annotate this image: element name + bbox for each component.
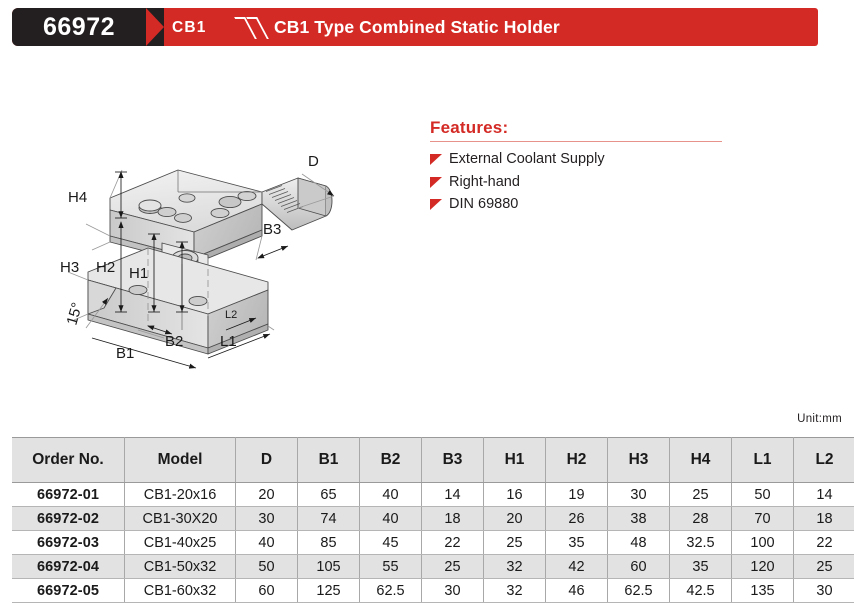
cell-b3: 18	[422, 507, 484, 531]
features-divider	[430, 141, 722, 142]
cell-h4: 32.5	[670, 531, 732, 555]
cell-h3: 60	[608, 555, 670, 579]
cell-d: 20	[236, 483, 298, 507]
cell-h2: 19	[546, 483, 608, 507]
cell-b3: 25	[422, 555, 484, 579]
cell-order-no: 66972-05	[12, 579, 125, 603]
red-triangle-bullet-icon	[430, 154, 443, 167]
cell-l1: 50	[732, 483, 794, 507]
cell-h3: 38	[608, 507, 670, 531]
page-title: CB1 Type Combined Static Holder	[274, 8, 560, 46]
cell-h4: 28	[670, 507, 732, 531]
cell-d: 60	[236, 579, 298, 603]
cell-l2: 14	[794, 483, 854, 507]
cell-b1: 125	[298, 579, 360, 603]
dimension-label-h3: H3	[60, 259, 79, 276]
dimension-label-angle: 15°	[64, 301, 87, 327]
column-header-l1: L1	[732, 438, 794, 483]
cell-h3: 48	[608, 531, 670, 555]
cell-l2: 18	[794, 507, 854, 531]
column-header-order-no: Order No.	[12, 438, 125, 483]
series-code-text: CB1	[172, 8, 207, 46]
cell-model: CB1-50x32	[125, 555, 236, 579]
cell-l1: 120	[732, 555, 794, 579]
feature-list-item: DIN 69880	[430, 195, 730, 214]
column-header-b3: B3	[422, 438, 484, 483]
column-header-d: D	[236, 438, 298, 483]
column-header-b2: B2	[360, 438, 422, 483]
cell-h3: 62.5	[608, 579, 670, 603]
red-triangle-bullet-icon	[430, 199, 443, 212]
cell-l2: 22	[794, 531, 854, 555]
column-header-h4: H4	[670, 438, 732, 483]
cell-model: CB1-60x32	[125, 579, 236, 603]
column-header-h1: H1	[484, 438, 546, 483]
cell-d: 50	[236, 555, 298, 579]
cell-l1: 135	[732, 579, 794, 603]
cell-h1: 25	[484, 531, 546, 555]
dimension-label-b1: B1	[116, 345, 134, 362]
features-section: Features: External Coolant Supply Right-…	[430, 118, 730, 218]
cell-model: CB1-20x16	[125, 483, 236, 507]
drawing-svg: H4 H3 H2 H1 B3 D B2 B1 L1 L2 15°	[30, 130, 410, 370]
feature-label: External Coolant Supply	[449, 150, 605, 169]
cell-l1: 70	[732, 507, 794, 531]
cell-h1: 20	[484, 507, 546, 531]
cell-order-no: 66972-04	[12, 555, 125, 579]
cell-b1: 74	[298, 507, 360, 531]
cell-h1: 32	[484, 579, 546, 603]
cell-d: 40	[236, 531, 298, 555]
column-header-l2: L2	[794, 438, 854, 483]
cell-order-no: 66972-01	[12, 483, 125, 507]
cell-h4: 35	[670, 555, 732, 579]
cell-h2: 46	[546, 579, 608, 603]
dimension-label-b2: B2	[165, 333, 183, 350]
column-header-h3: H3	[608, 438, 670, 483]
cell-b2: 62.5	[360, 579, 422, 603]
cell-b1: 105	[298, 555, 360, 579]
cell-l2: 25	[794, 555, 854, 579]
cell-h2: 26	[546, 507, 608, 531]
cell-h4: 42.5	[670, 579, 732, 603]
table-row: 66972-05 CB1-60x32 60 125 62.5 30 32 46 …	[12, 579, 854, 603]
cell-order-no: 66972-03	[12, 531, 125, 555]
feature-label: DIN 69880	[449, 195, 518, 214]
cell-h2: 35	[546, 531, 608, 555]
cell-b1: 85	[298, 531, 360, 555]
table-row: 66972-03 CB1-40x25 40 85 45 22 25 35 48 …	[12, 531, 854, 555]
table-row: 66972-04 CB1-50x32 50 105 55 25 32 42 60…	[12, 555, 854, 579]
cell-h3: 30	[608, 483, 670, 507]
cell-b2: 40	[360, 507, 422, 531]
cell-h2: 42	[546, 555, 608, 579]
specification-table-container: Order No. Model D B1 B2 B3 H1 H2 H3 H4 L…	[12, 437, 845, 603]
order-code-text: 66972	[12, 8, 146, 46]
cell-b3: 14	[422, 483, 484, 507]
feature-list-item: External Coolant Supply	[430, 150, 730, 169]
cell-model: CB1-40x25	[125, 531, 236, 555]
dimension-label-l1: L1	[220, 333, 237, 350]
table-header-row: Order No. Model D B1 B2 B3 H1 H2 H3 H4 L…	[12, 438, 854, 483]
column-header-model: Model	[125, 438, 236, 483]
cell-h4: 25	[670, 483, 732, 507]
table-row: 66972-02 CB1-30X20 30 74 40 18 20 26 38 …	[12, 507, 854, 531]
specification-table: Order No. Model D B1 B2 B3 H1 H2 H3 H4 L…	[12, 437, 854, 603]
dimension-label-b3: B3	[263, 221, 281, 238]
red-triangle-bullet-icon	[430, 177, 443, 190]
dimension-label-l2: L2	[225, 309, 237, 321]
cell-h1: 32	[484, 555, 546, 579]
cell-b3: 30	[422, 579, 484, 603]
cell-b2: 45	[360, 531, 422, 555]
cell-l1: 100	[732, 531, 794, 555]
product-header-banner: 66972 CB1 CB1 Type Combined Static Holde…	[12, 8, 818, 46]
cell-b1: 65	[298, 483, 360, 507]
feature-list-item: Right-hand	[430, 173, 730, 192]
dimension-label-h4: H4	[68, 189, 87, 206]
features-heading: Features:	[430, 118, 730, 138]
cell-d: 30	[236, 507, 298, 531]
cell-order-no: 66972-02	[12, 507, 125, 531]
column-header-h2: H2	[546, 438, 608, 483]
column-header-b1: B1	[298, 438, 360, 483]
cell-l2: 30	[794, 579, 854, 603]
cell-b2: 40	[360, 483, 422, 507]
feature-label: Right-hand	[449, 173, 520, 192]
unit-label: Unit:mm	[797, 413, 842, 425]
cell-model: CB1-30X20	[125, 507, 236, 531]
dimension-label-h2: H2	[96, 259, 115, 276]
table-row: 66972-01 CB1-20x16 20 65 40 14 16 19 30 …	[12, 483, 854, 507]
cell-h1: 16	[484, 483, 546, 507]
cell-b2: 55	[360, 555, 422, 579]
cell-b3: 22	[422, 531, 484, 555]
dimension-label-h1: H1	[129, 265, 148, 282]
cb1-static-holder-isometric-drawing: H4 H3 H2 H1 B3 D B2 B1 L1 L2 15°	[30, 130, 410, 370]
dimension-label-d: D	[308, 153, 319, 170]
order-code-badge-arrow-tip	[146, 8, 164, 46]
